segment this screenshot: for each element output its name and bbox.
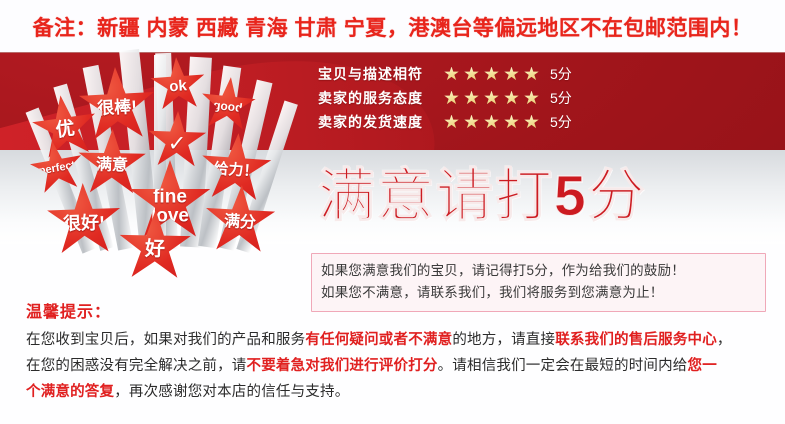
promo-banner-page: 备注：新疆 内蒙 西藏 青海 甘肃 宁夏，港澳台等偏远地区不在包邮范围内！ ok… [0, 0, 785, 424]
tip-highlight-text: 您一 [688, 358, 717, 374]
warm-tips-title: 温馨提示： [26, 298, 766, 322]
gold-star-icon [484, 115, 499, 130]
burst-star-label: good [213, 99, 243, 114]
gold-star-icon [524, 67, 539, 82]
warm-tips-block: 温馨提示： 在您收到宝贝后，如果对我们的产品和服务有任何疑问或者不满意的地方，请… [26, 298, 766, 406]
tip-highlight-text: 个满意的答复 [26, 384, 114, 400]
gold-star-icon [464, 115, 479, 130]
rating-score: 5分 [550, 88, 572, 108]
rating-stars [444, 67, 539, 82]
burst-star-label: ok [169, 79, 188, 95]
rating-label: 卖家的发货速度 [318, 112, 436, 132]
tip-plain-text: ，再次感谢您对本店的信任与支持。 [114, 384, 349, 400]
tip-highlight-text: 联系我们的售后服务中心 [555, 332, 717, 348]
gold-star-icon [444, 115, 459, 130]
gold-star-icon [504, 115, 519, 130]
gold-star-icon [504, 67, 519, 82]
gold-star-icon [524, 115, 539, 130]
rating-row: 卖家的服务态度5分 [318, 86, 638, 110]
warm-tips-line-2: 在您的困惑没有完全解决之前，请不要着急对我们进行评价打分。请相信我们一定会在最短… [26, 354, 766, 379]
tip-plain-text: ， [717, 332, 732, 348]
burst-star-label: perfect [38, 161, 76, 178]
burst-star-label: 很棒! [97, 98, 138, 117]
rating-stars [444, 91, 539, 106]
gold-star-icon [484, 91, 499, 106]
burst-star-label: 满意 [96, 158, 128, 175]
burst-star-label: 好 [145, 239, 165, 260]
star-burst-cluster: ok很棒!good优✓perfect满意给力！finelove很好!满分好 [22, 55, 312, 260]
tip-plain-text: 。请相信我们一定会在最短的时间内给 [438, 358, 688, 374]
rating-list: 宝贝与描述相符5分卖家的服务态度5分卖家的发货速度5分 [318, 62, 638, 134]
gold-star-icon [444, 91, 459, 106]
tip-highlight-text: 不要着急对我们进行评价打分 [247, 358, 438, 374]
shipping-notice-text: 备注：新疆 内蒙 西藏 青海 甘肃 宁夏，港澳台等偏远地区不在包邮范围内！ [33, 12, 753, 42]
tip-plain-text: 的地方，请直接 [452, 332, 555, 348]
burst-star-label: ✓ [167, 132, 186, 155]
rating-stars [444, 115, 539, 130]
gold-star-icon [464, 91, 479, 106]
gold-star-icon [464, 67, 479, 82]
rating-score: 5分 [550, 64, 572, 84]
rating-label: 卖家的服务态度 [318, 88, 436, 108]
rating-row: 宝贝与描述相符5分 [318, 62, 638, 86]
gold-star-icon [484, 67, 499, 82]
page-title: 满意请打5分 [318, 168, 647, 225]
burst-star-label: 很好! [63, 213, 106, 233]
gold-star-icon [524, 91, 539, 106]
shipping-notice-bar: 备注：新疆 内蒙 西藏 青海 甘肃 宁夏，港澳台等偏远地区不在包邮范围内！ [0, 0, 785, 53]
burst-star-label: 满分 [223, 214, 256, 232]
gold-star-icon [504, 91, 519, 106]
gold-star-icon [444, 67, 459, 82]
tip-plain-text: 在您的困惑没有完全解决之前，请 [26, 358, 247, 374]
tip-plain-text: 在您收到宝贝后，如果对我们的产品和服务 [26, 332, 305, 348]
burst-star-label: 优 [55, 119, 77, 141]
rating-score: 5分 [550, 112, 572, 132]
tip-highlight-text: 有任何疑问或者不满意 [305, 332, 452, 348]
note-line-1: 如果您满意我们的宝贝，请记得打5分，作为给我们的鼓励！ [321, 260, 756, 282]
rating-label: 宝贝与描述相符 [318, 64, 436, 84]
warm-tips-line-3: 个满意的答复，再次感谢您对本店的信任与支持。 [26, 380, 766, 405]
rating-row: 卖家的发货速度5分 [318, 110, 638, 134]
warm-tips-line-1: 在您收到宝贝后，如果对我们的产品和服务有任何疑问或者不满意的地方，请直接联系我们… [26, 328, 766, 353]
